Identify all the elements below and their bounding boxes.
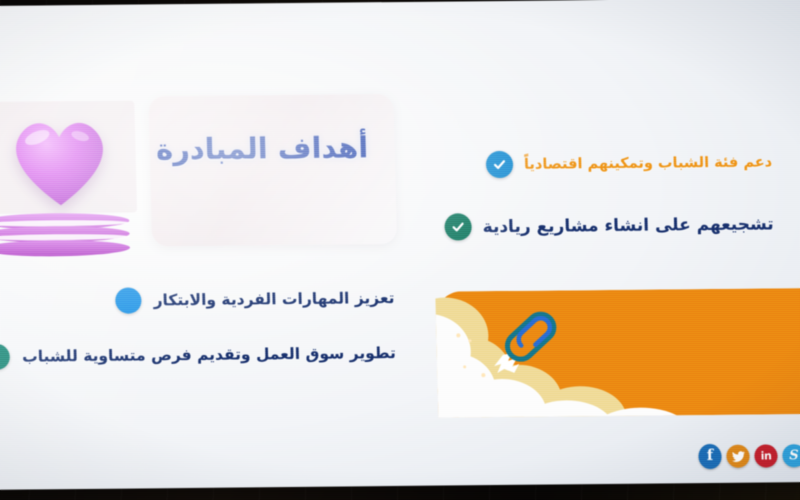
- dot-bullet-row: تعزيز المهارات الفردية والابتكار: [115, 285, 394, 314]
- podium-disc: [0, 240, 130, 257]
- twitter-bird-glyph: [731, 450, 745, 462]
- social-links-bar[interactable]: f in S: [698, 443, 800, 469]
- photo-of-projected-slide: أهداف المبادرة دعم فئة الشباب وتمكينهم ا…: [0, 0, 800, 500]
- dot-circle-icon: [0, 344, 10, 370]
- check-bullet-row: دعم فئة الشباب وتمكينهم اقتصادياً: [486, 148, 773, 178]
- check-circle-icon: [444, 213, 472, 240]
- podium-stack: [0, 213, 130, 260]
- paperclip-rocket-icon: [480, 308, 568, 383]
- spark-dot: [481, 373, 485, 377]
- heart-icon: [7, 115, 113, 210]
- projection-screen: أهداف المبادرة دعم فئة الشباب وتمكينهم ا…: [0, 0, 800, 490]
- linkedin-icon[interactable]: in: [754, 444, 778, 467]
- spark-dot: [456, 333, 460, 337]
- dot-circle-icon: [115, 287, 142, 313]
- check-bullet-label: تشجيعهم على انشاء مشاريع ريادية: [482, 214, 774, 237]
- heart-podium-graphic: [0, 100, 144, 261]
- check-bullet-label: دعم فئة الشباب وتمكينهم اقتصادياً: [524, 154, 772, 172]
- spark-dot: [468, 339, 471, 342]
- presentation-slide: أهداف المبادرة دعم فئة الشباب وتمكينهم ا…: [0, 0, 800, 490]
- facebook-icon[interactable]: f: [698, 444, 722, 469]
- dot-bullet-label: تعزيز المهارات الفردية والابتكار: [153, 289, 394, 309]
- check-circle-icon: [486, 151, 514, 178]
- dot-bullet-row: تطوير سوق العمل وتقديم فرص متساوية للشبا…: [0, 340, 396, 370]
- skype-icon[interactable]: S: [782, 444, 800, 467]
- orange-banner: [435, 288, 800, 418]
- projection-screen-wrapper: أهداف المبادرة دعم فئة الشباب وتمكينهم ا…: [0, 0, 800, 490]
- twitter-icon[interactable]: [726, 445, 750, 468]
- title-panel: [148, 94, 397, 246]
- dot-bullet-label: تطوير سوق العمل وتقديم فرص متساوية للشبا…: [22, 344, 396, 366]
- spark-dot: [463, 365, 466, 368]
- page-title: أهداف المبادرة: [129, 130, 395, 167]
- check-bullet-row: تشجيعهم على انشاء مشاريع ريادية: [444, 210, 774, 240]
